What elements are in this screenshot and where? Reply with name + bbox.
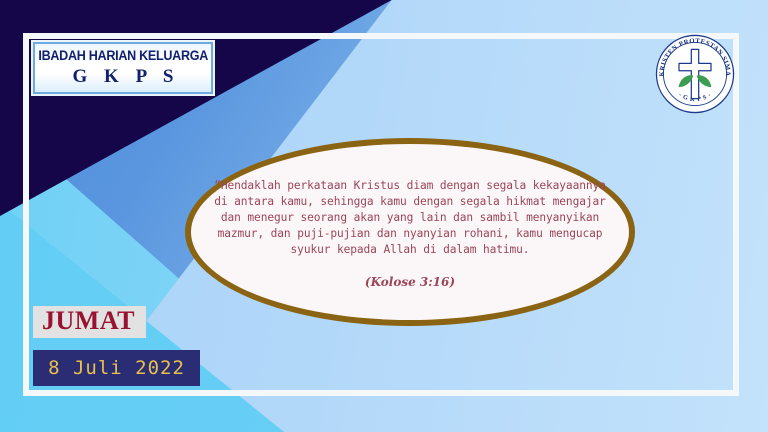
verse-text: “Hendaklah perkataan Kristus diam dengan… [210, 178, 610, 258]
title-banner: IBADAH HARIAN KELUARGA G K P S [33, 42, 213, 94]
gkps-seal-logo: GEREJA KRISTEN PROTESTAN SIMALUNGUN - G … [654, 33, 736, 115]
day-name-text: JUMAT [42, 307, 135, 335]
day-name-box: JUMAT [33, 306, 146, 338]
slide-canvas: IBADAH HARIAN KELUARGA G K P S GEREJA KR… [0, 0, 768, 432]
date-box: 8 Juli 2022 [33, 350, 200, 386]
date-text: 8 Juli 2022 [48, 359, 185, 378]
title-banner-line2: G K P S [67, 66, 180, 88]
title-banner-line1: IBADAH HARIAN KELUARGA [38, 49, 208, 63]
verse-reference: (Kolose 3:16) [365, 275, 455, 289]
verse-ellipse: “Hendaklah perkataan Kristus diam dengan… [185, 138, 635, 326]
